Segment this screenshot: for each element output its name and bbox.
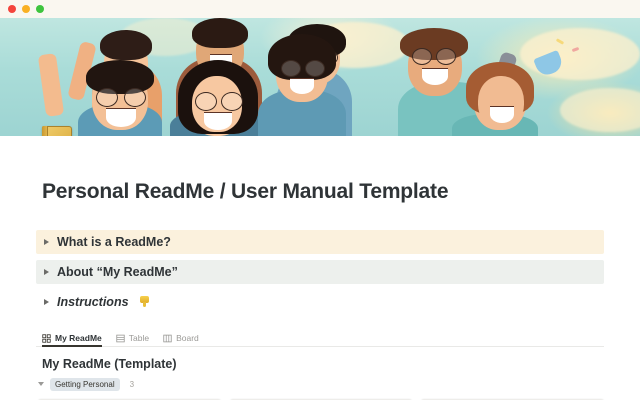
- toggle-about-my-readme[interactable]: About “My ReadMe”: [36, 260, 604, 284]
- database-title[interactable]: My ReadMe (Template): [42, 357, 604, 371]
- cloud-shape: [520, 28, 640, 80]
- minimize-button[interactable]: [22, 5, 30, 13]
- board-group-header[interactable]: Getting Personal 3: [38, 378, 604, 391]
- tab-board[interactable]: Board: [163, 333, 199, 346]
- status-badge: Getting Personal: [50, 378, 120, 391]
- tab-table[interactable]: Table: [116, 333, 149, 346]
- toggle-label: About “My ReadMe”: [57, 265, 178, 279]
- pin-emoji-icon: [140, 296, 149, 308]
- tab-label: My ReadMe: [55, 333, 102, 343]
- notebook-icon[interactable]: [42, 126, 72, 136]
- toggle-label: What is a ReadMe?: [57, 235, 171, 249]
- app-window: Personal ReadMe / User Manual Template W…: [0, 0, 640, 400]
- table-icon: [116, 334, 125, 343]
- cloud-shape: [560, 88, 640, 132]
- book-spine-shape: [42, 126, 48, 136]
- toggle-what-is-a-readme[interactable]: What is a ReadMe?: [36, 230, 604, 254]
- tab-my-readme[interactable]: My ReadMe: [42, 333, 102, 346]
- window-titlebar: [0, 0, 640, 18]
- tab-label: Table: [129, 333, 149, 343]
- group-count: 3: [130, 380, 134, 389]
- chevron-right-icon[interactable]: [44, 299, 49, 305]
- close-button[interactable]: [8, 5, 16, 13]
- page-cover-banner[interactable]: [0, 18, 640, 136]
- gallery-icon: [42, 334, 51, 343]
- zoom-button[interactable]: [36, 5, 44, 13]
- toggle-instructions[interactable]: Instructions: [36, 290, 604, 314]
- chevron-down-icon[interactable]: [38, 382, 44, 386]
- database-view-tabs: My ReadMe Table Boar: [36, 328, 604, 347]
- inline-database: My ReadMe Table Boar: [36, 328, 604, 400]
- toggle-list: What is a ReadMe? About “My ReadMe” Inst…: [36, 230, 604, 314]
- chevron-right-icon[interactable]: [44, 269, 49, 275]
- document-body: Personal ReadMe / User Manual Template W…: [0, 180, 640, 400]
- tab-label: Board: [176, 333, 199, 343]
- page-title[interactable]: Personal ReadMe / User Manual Template: [42, 180, 604, 204]
- board-icon: [163, 334, 172, 343]
- toggle-label: Instructions: [57, 295, 129, 309]
- chevron-right-icon[interactable]: [44, 239, 49, 245]
